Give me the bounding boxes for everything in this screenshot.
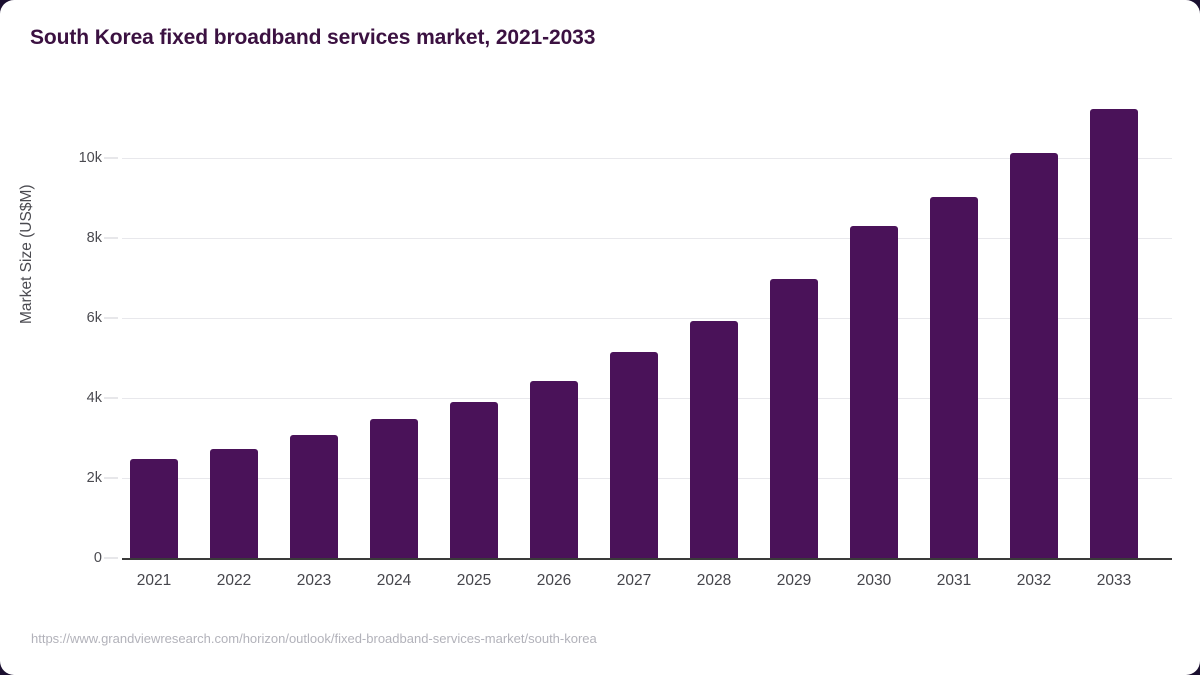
bar[interactable] <box>450 402 498 558</box>
bar[interactable] <box>1090 109 1138 558</box>
x-axis-tick-label: 2025 <box>457 572 491 590</box>
y-axis-tick-mark <box>104 558 118 559</box>
y-axis-tick-label: 0 <box>10 550 102 566</box>
plot-area <box>122 90 1172 558</box>
x-axis-tick-label: 2031 <box>937 572 971 590</box>
y-axis-tick-label: 8k <box>10 230 102 246</box>
x-axis-tick-label: 2030 <box>857 572 891 590</box>
y-axis-tick-label: 4k <box>10 390 102 406</box>
y-axis-tick-label: 6k <box>10 310 102 326</box>
x-axis-tick-label: 2021 <box>137 572 171 590</box>
bar[interactable] <box>770 279 818 558</box>
bar[interactable] <box>610 352 658 558</box>
x-axis-tick-label: 2023 <box>297 572 331 590</box>
y-axis-title: Market Size (US$M) <box>18 184 36 324</box>
x-axis-tick-label: 2027 <box>617 572 651 590</box>
y-axis-tick-label: 10k <box>10 150 102 166</box>
y-axis-tick-mark <box>104 318 118 319</box>
x-axis-tick-label: 2022 <box>217 572 251 590</box>
bar[interactable] <box>210 449 258 558</box>
bar[interactable] <box>690 321 738 558</box>
x-axis-line <box>122 558 1172 560</box>
x-axis-tick-label: 2032 <box>1017 572 1051 590</box>
y-axis-tick-mark <box>104 478 118 479</box>
bar[interactable] <box>370 419 418 558</box>
y-axis-tick-mark <box>104 238 118 239</box>
bar[interactable] <box>930 197 978 558</box>
x-axis-tick-label: 2029 <box>777 572 811 590</box>
bar[interactable] <box>530 381 578 558</box>
chart-card: South Korea fixed broadband services mar… <box>0 0 1200 675</box>
x-axis-tick-label: 2026 <box>537 572 571 590</box>
bar[interactable] <box>850 226 898 558</box>
bar[interactable] <box>290 435 338 558</box>
x-axis-tick-label: 2028 <box>697 572 731 590</box>
y-axis-tick-mark <box>104 398 118 399</box>
y-axis-tick-label: 2k <box>10 470 102 486</box>
page-title: South Korea fixed broadband services mar… <box>30 26 595 50</box>
x-axis-tick-label: 2033 <box>1097 572 1131 590</box>
x-axis-tick-label: 2024 <box>377 572 411 590</box>
source-url-label: https://www.grandviewresearch.com/horizo… <box>31 631 597 646</box>
bar[interactable] <box>1010 153 1058 558</box>
y-axis-tick-mark <box>104 158 118 159</box>
bar[interactable] <box>130 459 178 558</box>
